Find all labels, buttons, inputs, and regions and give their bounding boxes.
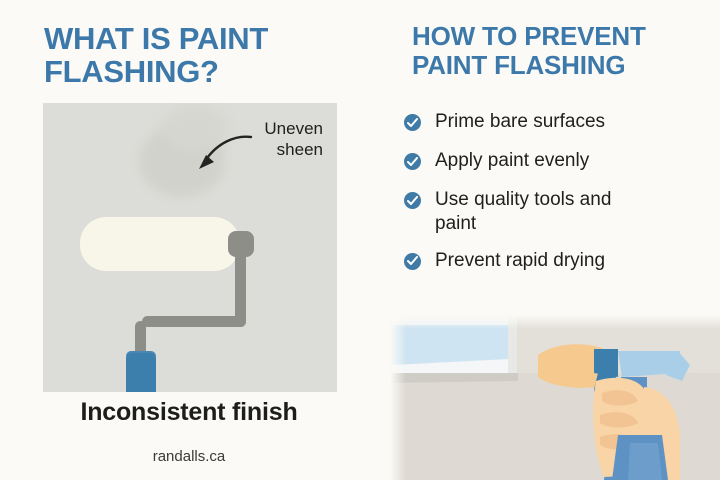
check-circle-icon [404,153,421,170]
left-panel: WHAT IS PAINT FLASHING? Uneven sheen Inc… [0,0,378,480]
prevention-tips-list: Prime bare surfaces Apply paint evenly U… [404,110,714,288]
right-panel: HOW TO PREVENT PAINT FLASHING Prime bare… [378,0,720,480]
list-item-label: Prevent rapid drying [435,249,605,272]
roller-handle-grip [126,353,156,392]
left-panel-title: WHAT IS PAINT FLASHING? [44,22,364,89]
roller-sleeve [80,217,240,271]
list-item: Prime bare surfaces [404,110,714,133]
left-panel-caption: Inconsistent finish [0,398,378,427]
list-item-label: Use quality tools and paint [435,188,630,234]
right-panel-title: HOW TO PREVENT PAINT FLASHING [412,22,712,80]
roller-rod-horizontal [142,316,246,327]
infographic-canvas: WHAT IS PAINT FLASHING? Uneven sheen Inc… [0,0,720,480]
check-circle-icon [404,114,421,131]
source-attribution: randalls.ca [0,448,378,465]
list-item-label: Apply paint evenly [435,149,589,172]
paint-roller-illustration: Uneven sheen [43,103,337,392]
roller-rod-vertical [235,237,246,327]
list-item-label: Prime bare surfaces [435,110,605,133]
check-circle-icon [404,192,421,209]
list-item: Use quality tools and paint [404,188,714,234]
list-item: Prevent rapid drying [404,249,714,272]
list-item: Apply paint evenly [404,149,714,172]
check-circle-icon [404,253,421,270]
spray-bottle-illustration [390,315,720,480]
callout-arrow-icon [195,131,255,177]
